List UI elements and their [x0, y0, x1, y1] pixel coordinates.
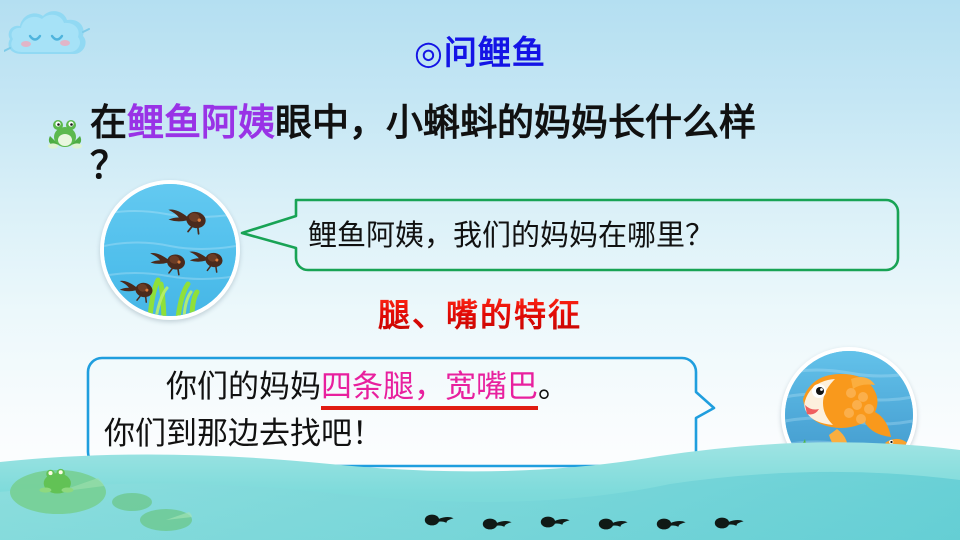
section-heading: 腿、嘴的特征 [0, 296, 960, 334]
answer-suffix: 。 [538, 369, 569, 405]
page-title: ◎问鲤鱼 [0, 36, 960, 69]
speech-bubble-question: 鲤鱼阿姨，我们的妈妈在哪里？ [240, 198, 900, 274]
question-suffix: 眼中，小蝌蚪的妈妈长什么样 [275, 101, 756, 144]
slide-canvas: ◎问鲤鱼 在鲤鱼阿姨眼中，小蝌蚪的妈妈长什么样 ？ [0, 0, 960, 540]
question-prefix: 在 [90, 101, 127, 144]
water-decoration [0, 420, 960, 540]
frog-icon [44, 114, 86, 152]
question-highlight: 鲤鱼阿姨 [127, 101, 275, 144]
question-text: 在鲤鱼阿姨眼中，小蝌蚪的妈妈长什么样 ？ [90, 101, 950, 188]
bubble-green-text: 鲤鱼阿姨，我们的妈妈在哪里？ [308, 212, 888, 258]
answer-prefix: 你们的妈妈 [166, 369, 321, 405]
answer-highlight: 四条腿，宽嘴巴 [321, 369, 538, 410]
question-mark: ？ [90, 144, 127, 187]
